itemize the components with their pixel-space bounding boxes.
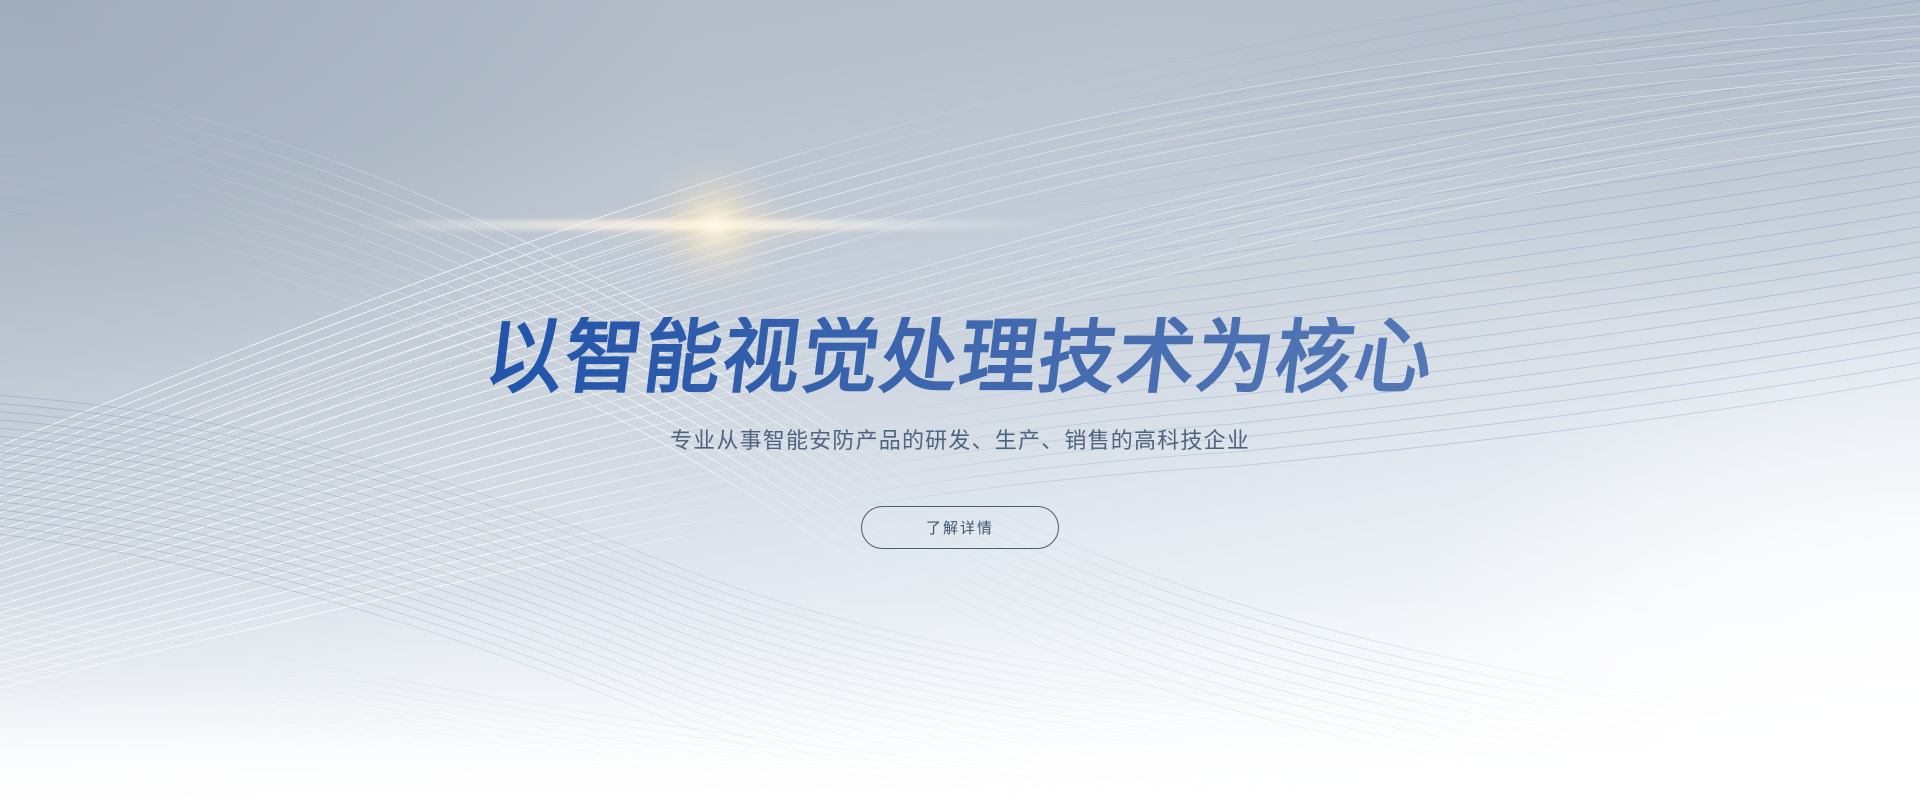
hero-headline: 以智能视觉处理技术为核心 — [53, 317, 1868, 399]
hero-subtitle: 专业从事智能安防产品的研发、生产、销售的高科技企业 — [0, 426, 1920, 457]
hero-cta-container: 了解详情 — [0, 506, 1920, 549]
learn-more-button[interactable]: 了解详情 — [861, 506, 1059, 549]
hero-banner: 以智能视觉处理技术为核心 专业从事智能安防产品的研发、生产、销售的高科技企业 了… — [0, 0, 1920, 800]
